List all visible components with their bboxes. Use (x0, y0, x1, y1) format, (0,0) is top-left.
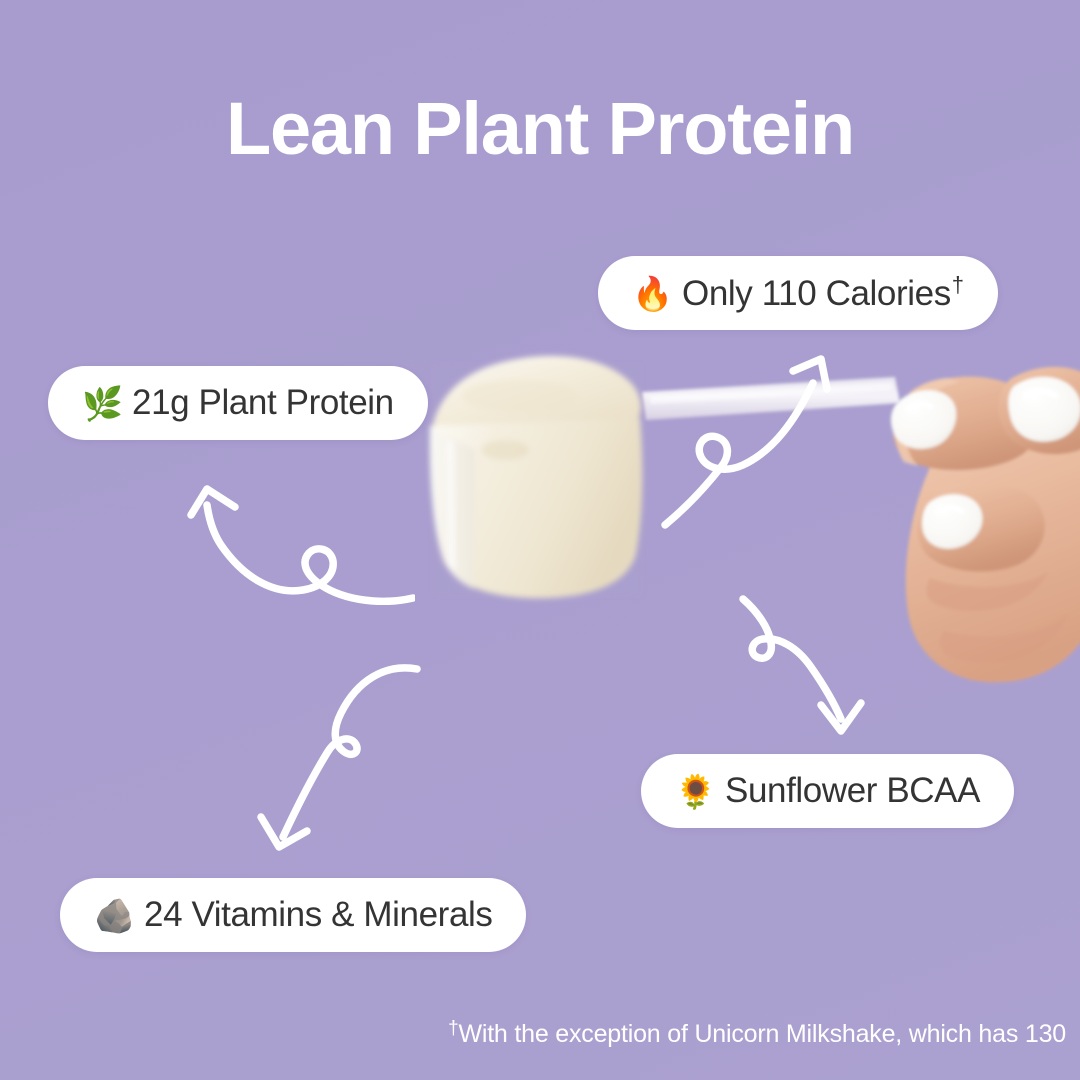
feature-label-calories: Only 110 Calories† (682, 272, 964, 314)
fire-icon: 🔥 (632, 277, 668, 310)
feature-pill-protein[interactable]: 🌿 21g Plant Protein (48, 366, 428, 440)
footnote-dagger: † (448, 1018, 458, 1039)
hand (891, 367, 1080, 683)
scoop-with-powder (430, 356, 642, 598)
arrow-to-protein-icon (185, 435, 415, 605)
footnote-text: With the exception of Unicorn Milkshake,… (458, 1020, 1066, 1048)
feature-label-protein: 21g Plant Protein (132, 383, 394, 423)
footnote: †With the exception of Unicorn Milkshake… (0, 1018, 1080, 1049)
product-photo-scoop-in-hand (400, 330, 1080, 750)
sunflower-icon: 🌻 (675, 775, 711, 808)
feature-pill-vitamins[interactable]: 🪨 24 Vitamins & Minerals (60, 878, 526, 952)
feature-label-bcaa: Sunflower BCAA (725, 771, 980, 811)
infographic-canvas: Lean Plant Protein (0, 0, 1080, 1080)
herb-icon: 🌿 (82, 387, 118, 420)
feature-label-vitamins: 24 Vitamins & Minerals (144, 895, 492, 935)
feature-pill-bcaa[interactable]: 🌻 Sunflower BCAA (641, 754, 1014, 828)
dagger-superscript: † (952, 272, 964, 297)
scoop-handle (642, 377, 900, 420)
page-title: Lean Plant Protein (0, 92, 1080, 166)
rock-icon: 🪨 (94, 899, 130, 932)
feature-pill-calories[interactable]: 🔥 Only 110 Calories† (598, 256, 998, 330)
